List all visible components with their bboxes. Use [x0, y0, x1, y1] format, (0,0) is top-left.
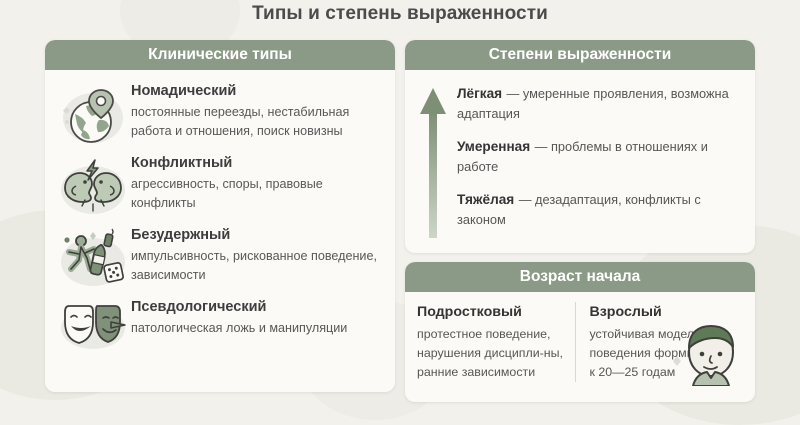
globe-pin-icon	[55, 80, 131, 146]
list-item: Умеренная — проблемы в отношениях и рабо…	[457, 137, 745, 177]
age-name: Взрослый	[590, 302, 740, 322]
list-item-text: Номадический постоянные переезды, нестаб…	[131, 80, 383, 141]
severity-header: Степени выраженности	[405, 40, 755, 70]
theater-masks-icon	[55, 296, 131, 362]
type-name: Псевдологический	[131, 298, 347, 317]
running-man-bottle-dice-icon	[55, 224, 131, 290]
list-item: Конфликтный агрессивность, споры, правов…	[45, 148, 395, 220]
list-item: Тяжёлая — дезадаптация, конфликты с зако…	[457, 190, 745, 230]
list-item-text: Псевдологический патологическая ложь и м…	[131, 296, 347, 338]
age-of-onset-header: Возраст начала	[405, 262, 755, 292]
up-arrow-icon	[417, 80, 457, 243]
age-column-adolescent: Подростковый протестное поведение, наруш…	[417, 302, 575, 382]
list-item-text: Конфликтный агрессивность, споры, правов…	[131, 152, 383, 213]
arguing-heads-icon	[55, 152, 131, 218]
type-description: агрессивность, споры, правовые конфликты	[131, 175, 383, 213]
age-of-onset-body: Подростковый протестное поведение, наруш…	[405, 292, 755, 382]
severity-name: Лёгкая	[457, 86, 502, 101]
severity-name: Тяжёлая	[457, 192, 514, 207]
type-name: Безудержный	[131, 226, 383, 245]
type-description: патологическая ложь и манипуляции	[131, 319, 347, 338]
type-description: постоянные переезды, нестабильная работа…	[131, 103, 383, 141]
age-name: Подростковый	[417, 302, 567, 322]
list-item: Лёгкая — умеренные проявления, возможна …	[457, 84, 745, 124]
list-item: Номадический постоянные переезды, нестаб…	[45, 76, 395, 148]
type-name: Конфликтный	[131, 154, 383, 173]
severity-card: Степени выраженности Лёгкая — умеренные …	[405, 40, 755, 253]
type-name: Номадический	[131, 82, 383, 101]
clinical-types-card: Клинические типы Номадический	[45, 40, 395, 392]
clinical-types-body: Номадический постоянные переезды, нестаб…	[45, 70, 395, 364]
age-description: протестное поведение, нарушения дисципли…	[417, 325, 567, 382]
list-item-text: Безудержный импульсивность, рискованное …	[131, 224, 383, 285]
type-description: импульсивность, рискованное поведение, з…	[131, 247, 383, 285]
list-item: Псевдологический патологическая ложь и м…	[45, 292, 395, 364]
young-man-face-icon	[669, 320, 753, 386]
list-item: Безудержный импульсивность, рискованное …	[45, 220, 395, 292]
clinical-types-header: Клинические типы	[45, 40, 395, 70]
severity-body: Лёгкая — умеренные проявления, возможна …	[405, 70, 755, 243]
age-of-onset-card: Возраст начала Подростковый протестное п…	[405, 262, 755, 402]
severity-name: Умеренная	[457, 139, 530, 154]
page-title: Типы и степень выраженности	[0, 3, 800, 25]
severity-list: Лёгкая — умеренные проявления, возможна …	[457, 80, 745, 243]
